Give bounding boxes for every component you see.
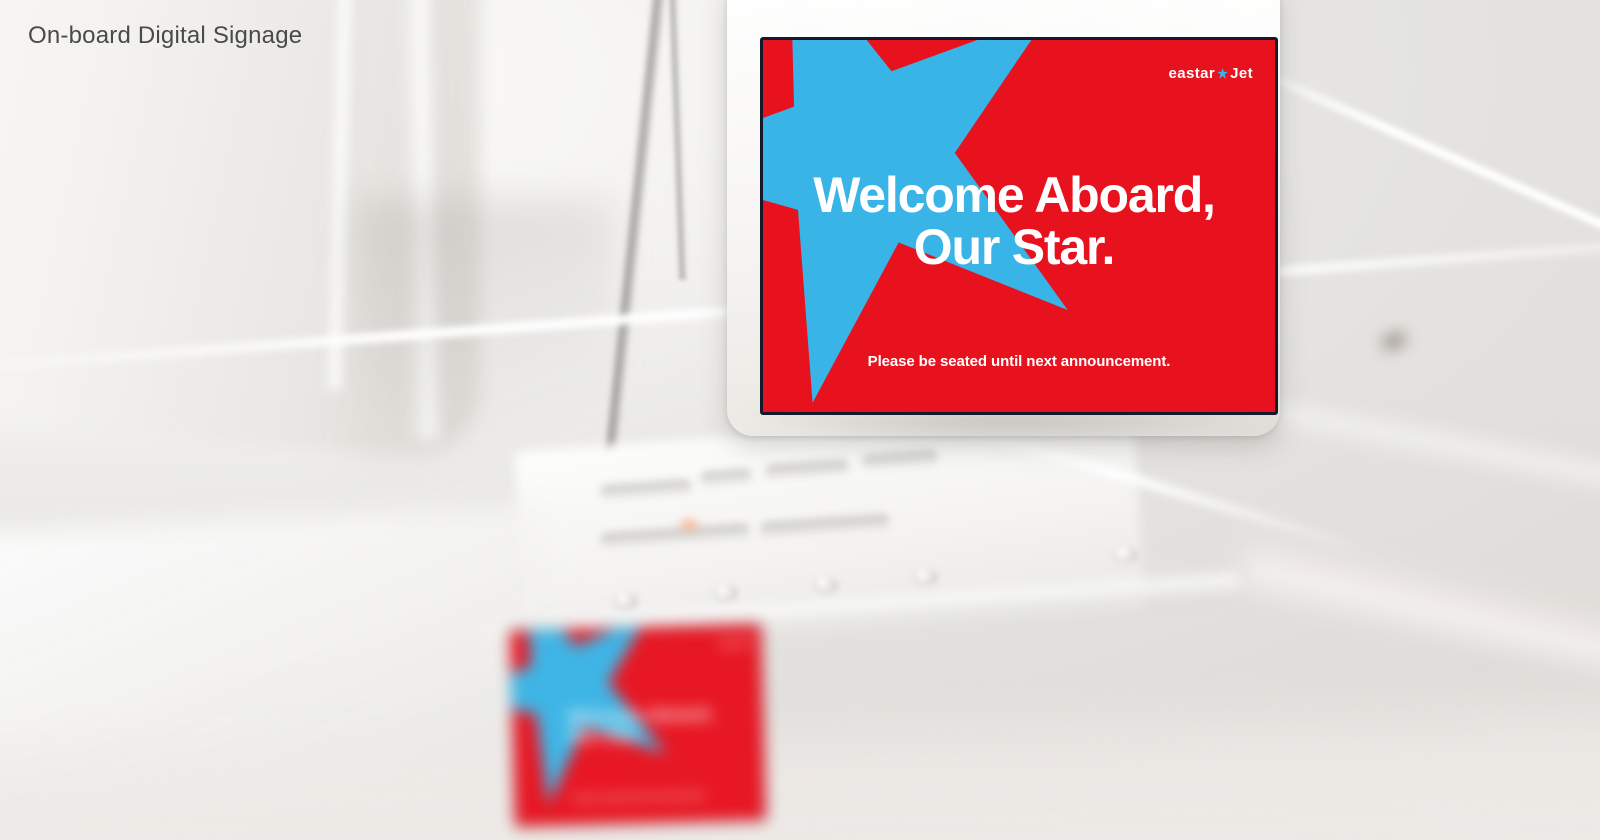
background-brand-name: eastar: [718, 640, 741, 648]
reading-light: [672, 518, 706, 532]
overhead-knob: [612, 592, 638, 610]
brand-logo: eastar Jet: [1169, 66, 1254, 81]
background-headline-line2: Our Star.: [568, 725, 642, 746]
background-headline: Welcome Aboard, Our Star.: [568, 703, 749, 746]
signage-headline: Welcome Aboard, Our Star.: [763, 170, 1265, 273]
background-headline-line1: Welcome Aboard,: [568, 704, 714, 727]
brand-suffix: Jet: [1230, 66, 1253, 81]
brand-name: eastar: [1169, 66, 1216, 81]
overhead-knob: [1112, 546, 1138, 564]
overhead-knob: [912, 568, 938, 586]
headline-line1: Welcome Aboard,: [813, 167, 1215, 223]
background-screen-surface: eastarJet Welcome Aboard, Our Star. Plea…: [510, 625, 765, 826]
background-brand-suffix: Jet: [741, 640, 752, 647]
signage-screen[interactable]: eastar Jet Welcome Aboard, Our Star. Ple…: [763, 40, 1275, 412]
overhead-knob: [812, 576, 838, 594]
ceiling-monitor-housing[interactable]: eastar Jet Welcome Aboard, Our Star. Ple…: [727, 0, 1280, 436]
star-icon: [1217, 68, 1228, 79]
overhead-knob: [712, 584, 738, 602]
housing-shadow: [741, 412, 1266, 446]
background-brand-logo: eastarJet: [718, 640, 752, 648]
signage-mockup-scene: eastarJet Welcome Aboard, Our Star. Plea…: [0, 0, 1600, 840]
signage-footer-message: Please be seated until next announcement…: [763, 353, 1275, 370]
headline-line2: Our Star.: [763, 222, 1265, 274]
page-title: On-board Digital Signage: [28, 22, 302, 50]
screen-bezel: eastar Jet Welcome Aboard, Our Star. Ple…: [760, 37, 1278, 415]
background-signage-screen: eastarJet Welcome Aboard, Our Star. Plea…: [510, 625, 765, 826]
